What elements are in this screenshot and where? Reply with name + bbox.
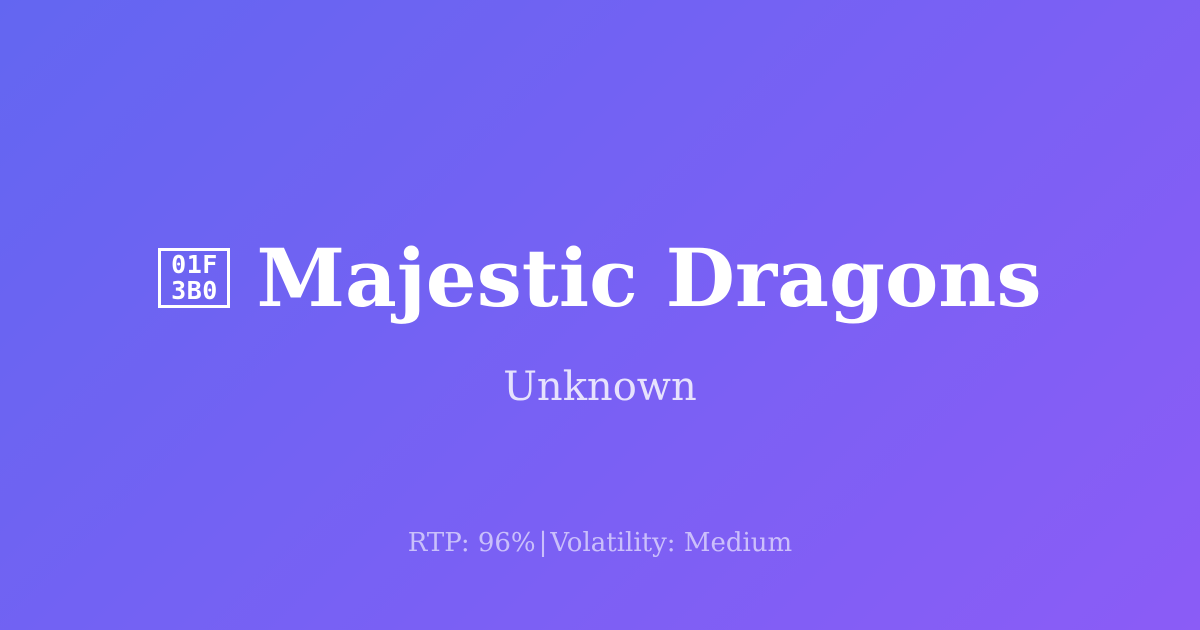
meta-separator: | (536, 528, 551, 558)
og-share-card: 01F 3B0 Majestic Dragons Unknown RTP: 96… (0, 0, 1200, 630)
game-meta-line: RTP: 96%|Volatility: Medium (0, 526, 1200, 560)
rtp-value: RTP: 96% (408, 528, 536, 558)
tofu-codepoint-low: 3B0 (171, 278, 218, 304)
tofu-codepoint-high: 01F (171, 252, 218, 278)
title-row: 01F 3B0 Majestic Dragons (0, 232, 1200, 324)
page-title: Majestic Dragons (256, 232, 1041, 324)
volatility-value: Volatility: Medium (550, 528, 792, 558)
subtitle-provider: Unknown (0, 362, 1200, 412)
slot-machine-emoji-icon: 01F 3B0 (158, 248, 230, 308)
